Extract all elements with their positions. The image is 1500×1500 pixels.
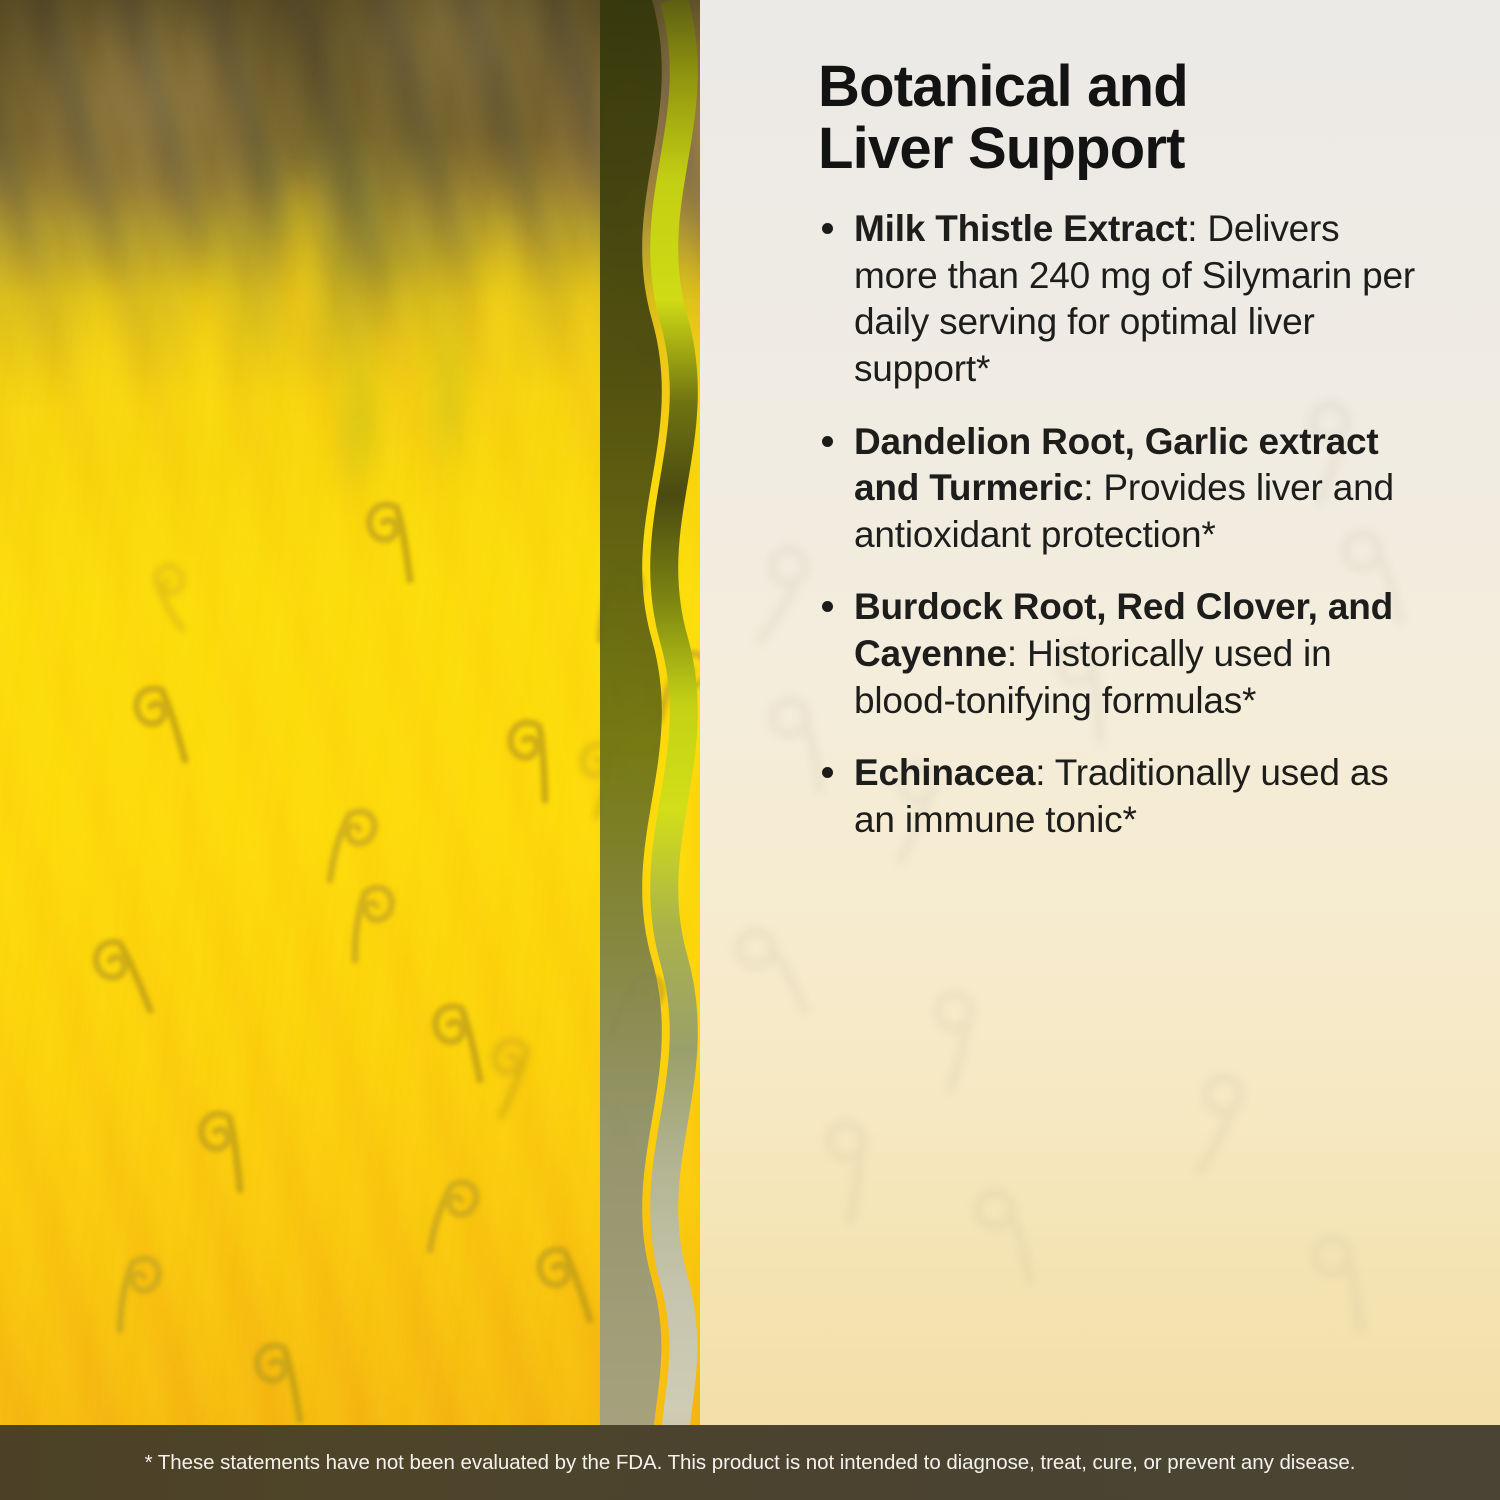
fda-disclaimer: * These statements have not been evaluat… <box>0 1451 1500 1475</box>
benefit-ingredient-name: Echinacea <box>854 752 1035 793</box>
benefit-list: Milk Thistle Extract: Delivers more than… <box>818 206 1418 843</box>
list-item: Milk Thistle Extract: Delivers more than… <box>818 206 1418 392</box>
benefit-ingredient-name: Milk Thistle Extract <box>854 208 1187 249</box>
product-feature-graphic: Botanical and Liver Support Milk Thistle… <box>0 0 1500 1500</box>
photo-pistil-curls <box>0 0 760 1500</box>
feature-content: Botanical and Liver Support Milk Thistle… <box>818 56 1418 869</box>
footer-band: * These statements have not been evaluat… <box>0 1425 1500 1500</box>
list-item: Echinacea: Traditionally used as an immu… <box>818 750 1418 843</box>
page-title: Botanical and Liver Support <box>818 56 1418 180</box>
list-item: Dandelion Root, Garlic extract and Turme… <box>818 419 1418 559</box>
list-item: Burdock Root, Red Clover, and Cayenne: H… <box>818 584 1418 724</box>
dandelion-photo <box>0 0 760 1500</box>
